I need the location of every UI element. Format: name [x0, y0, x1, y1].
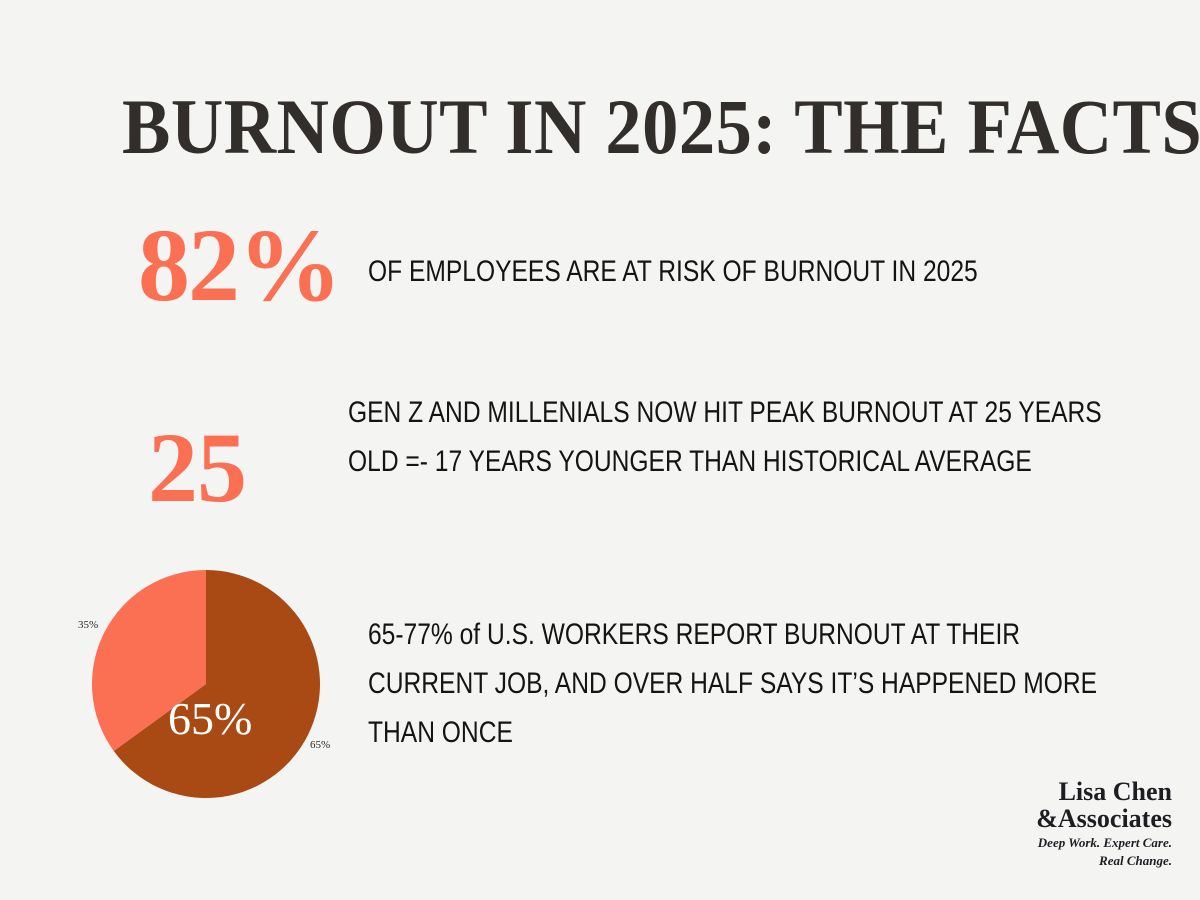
- stat-3-line-1: 65-77% of U.S. WORKERS REPORT BURNOUT AT…: [368, 610, 1097, 659]
- pie-chart-svg: 65% 35% 65%: [92, 570, 320, 798]
- pie-outer-label-35: 35%: [78, 619, 98, 631]
- stat-description-1: OF EMPLOYEES ARE AT RISK OF BURNOUT IN 2…: [368, 252, 978, 292]
- logo: Lisa Chen &Associates Deep Work. Expert …: [942, 778, 1172, 868]
- stat-number-82-percent: 82%: [138, 214, 340, 318]
- logo-tagline-line-2: Real Change.: [942, 853, 1172, 868]
- stat-1-line-1: OF EMPLOYEES ARE AT RISK OF BURNOUT IN 2…: [368, 252, 978, 292]
- stat-2-line-2: OLD =- 17 YEARS YOUNGER THAN HISTORICAL …: [348, 437, 1102, 486]
- logo-name-line-1: Lisa Chen: [942, 778, 1172, 805]
- infographic-canvas: BURNOUT IN 2025: THE FACTS 82% OF EMPLOY…: [0, 0, 1200, 900]
- stat-number-25: 25: [148, 418, 246, 518]
- stat-description-3: 65-77% of U.S. WORKERS REPORT BURNOUT AT…: [368, 610, 1097, 757]
- logo-tagline-line-1: Deep Work. Expert Care.: [942, 835, 1172, 850]
- stat-3-line-3: THAN ONCE: [368, 708, 1097, 757]
- logo-name-line-2: &Associates: [942, 805, 1172, 832]
- stat-2-line-1: GEN Z AND MILLENIALS NOW HIT PEAK BURNOU…: [348, 388, 1102, 437]
- stat-description-2: GEN Z AND MILLENIALS NOW HIT PEAK BURNOU…: [348, 388, 1102, 486]
- pie-chart: 65% 35% 65%: [92, 570, 320, 798]
- page-title: BURNOUT IN 2025: THE FACTS: [122, 86, 1052, 168]
- pie-outer-label-65: 65%: [310, 739, 330, 751]
- pie-center-label: 65%: [168, 693, 252, 744]
- stat-3-line-2: CURRENT JOB, AND OVER HALF SAYS IT’S HAP…: [368, 659, 1097, 708]
